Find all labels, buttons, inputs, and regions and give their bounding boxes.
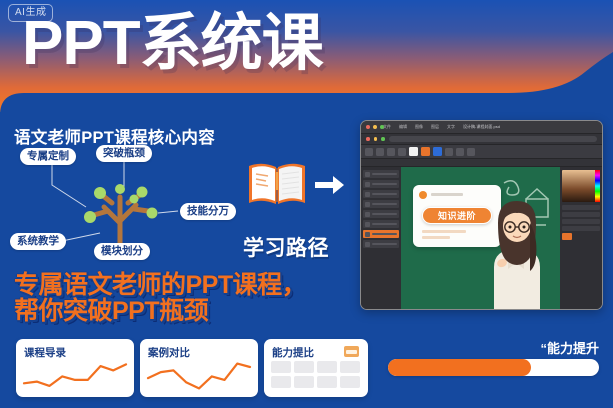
menu-item[interactable]: 文字 — [447, 124, 455, 130]
tree-label-skills: 技能分万 — [180, 203, 236, 220]
grid-cell — [294, 361, 314, 373]
active-color-swatch[interactable] — [562, 233, 572, 240]
menu-item[interactable]: 文件 — [383, 124, 391, 130]
card-text-placeholder — [422, 230, 466, 233]
tool-icon[interactable] — [456, 148, 464, 156]
layer-row[interactable] — [363, 210, 399, 218]
progress-label: “能力提升 — [540, 338, 599, 357]
headline-line-2: 帮你突破PPT瓶颈 — [14, 298, 306, 324]
editor-context-bar — [361, 159, 602, 167]
color-panel[interactable] — [560, 167, 602, 310]
swatch-white[interactable] — [409, 147, 418, 156]
editor-screenshot[interactable]: 文件 编辑 图像 图层 文字 设计稿-课程封面.psd — [360, 120, 603, 310]
grid-cell — [340, 376, 360, 388]
status-dot-yellow — [374, 137, 378, 141]
swatch-blue[interactable] — [433, 147, 442, 156]
card-text-placeholder — [422, 236, 450, 239]
tool-icon[interactable] — [445, 148, 453, 156]
panel-row — [562, 219, 600, 224]
headline: 专属语文老师的PPT课程， 帮你突破PPT瓶颈 — [14, 272, 306, 324]
card-ability-compare[interactable]: 能力提比 — [264, 339, 368, 397]
tree-label-breakthrough: 突破瓶颈 — [96, 145, 152, 162]
layer-row[interactable] — [363, 180, 399, 188]
tool-icon[interactable] — [376, 148, 384, 156]
close-icon[interactable] — [366, 125, 370, 129]
editor-path-field[interactable] — [389, 136, 598, 142]
menu-item[interactable]: 图层 — [431, 124, 439, 130]
card-title: 能力提比 — [272, 345, 314, 360]
editor-option-bar[interactable] — [361, 145, 602, 159]
layers-panel[interactable] — [361, 167, 401, 310]
grid-cell — [317, 376, 337, 388]
grid-cell — [271, 376, 291, 388]
sparkline-chart-1 — [16, 357, 134, 395]
tree-label-system: 系统教学 — [10, 233, 66, 250]
layer-row[interactable] — [363, 240, 399, 248]
headline-line-1: 专属语文老师的PPT课程， — [14, 272, 306, 298]
panel-row — [562, 205, 600, 210]
menu-item[interactable]: 编辑 — [399, 124, 407, 130]
tool-icon[interactable] — [387, 148, 395, 156]
status-dot-red — [366, 137, 370, 141]
editor-menubar[interactable]: 文件 编辑 图像 图层 文字 — [383, 124, 455, 130]
grid-cell — [340, 361, 360, 373]
card-heading-placeholder — [431, 193, 463, 196]
layer-row[interactable] — [363, 220, 399, 228]
editor-toolbar-secondary — [361, 134, 602, 145]
editor-workspace: 知识进阶 — [361, 167, 602, 310]
minimize-icon[interactable] — [373, 125, 377, 129]
card-bullet-icon — [419, 191, 427, 199]
grid-cell — [317, 361, 337, 373]
color-picker[interactable] — [562, 170, 600, 202]
layer-row[interactable] — [363, 200, 399, 208]
grid-cell — [294, 376, 314, 388]
tree-diagram: 专属定制 突破瓶颈 技能分万 系统教学 模块划分 — [8, 145, 248, 265]
placeholder-grid — [271, 361, 360, 388]
layer-row[interactable] — [363, 190, 399, 198]
card-case-comparison[interactable]: 案例对比 — [140, 339, 258, 397]
window-controls[interactable] — [366, 125, 384, 129]
canvas-artboard[interactable]: 知识进阶 — [401, 167, 560, 310]
card-course-outline[interactable]: 课程导录 — [16, 339, 134, 397]
editor-titlebar: 文件 编辑 图像 图层 文字 设计稿-课程封面.psd — [361, 121, 602, 134]
panel-row — [562, 226, 600, 231]
menu-item[interactable]: 图像 — [415, 124, 423, 130]
tool-icon[interactable] — [467, 148, 475, 156]
layer-row-selected[interactable] — [363, 230, 399, 238]
arrow-right-icon — [315, 175, 345, 200]
teacher-illustration — [478, 193, 554, 310]
grid-cell — [271, 361, 291, 373]
folder-icon — [344, 346, 359, 357]
swatch-orange[interactable] — [421, 147, 430, 156]
editor-window-title: 设计稿-课程封面.psd — [463, 124, 500, 130]
learning-path-label: 学习路径 — [243, 232, 329, 262]
panel-row — [562, 212, 600, 217]
tool-icon[interactable] — [365, 148, 373, 156]
layer-row[interactable] — [363, 170, 399, 178]
open-book-icon — [246, 160, 308, 208]
hue-slider[interactable] — [595, 170, 600, 202]
progress-bar-fill — [388, 359, 531, 376]
page-title: PPT系统课 — [22, 6, 323, 82]
status-dot-green — [381, 137, 385, 141]
progress-bar[interactable] — [388, 359, 599, 376]
tree-label-custom: 专属定制 — [20, 148, 76, 165]
tool-icon[interactable] — [398, 148, 406, 156]
sparkline-chart-2 — [140, 357, 258, 395]
poster-root: AI生成 PPT系统课 语文老师PPT课程核心内容 — [0, 0, 613, 408]
tree-label-modules: 模块划分 — [94, 243, 150, 260]
